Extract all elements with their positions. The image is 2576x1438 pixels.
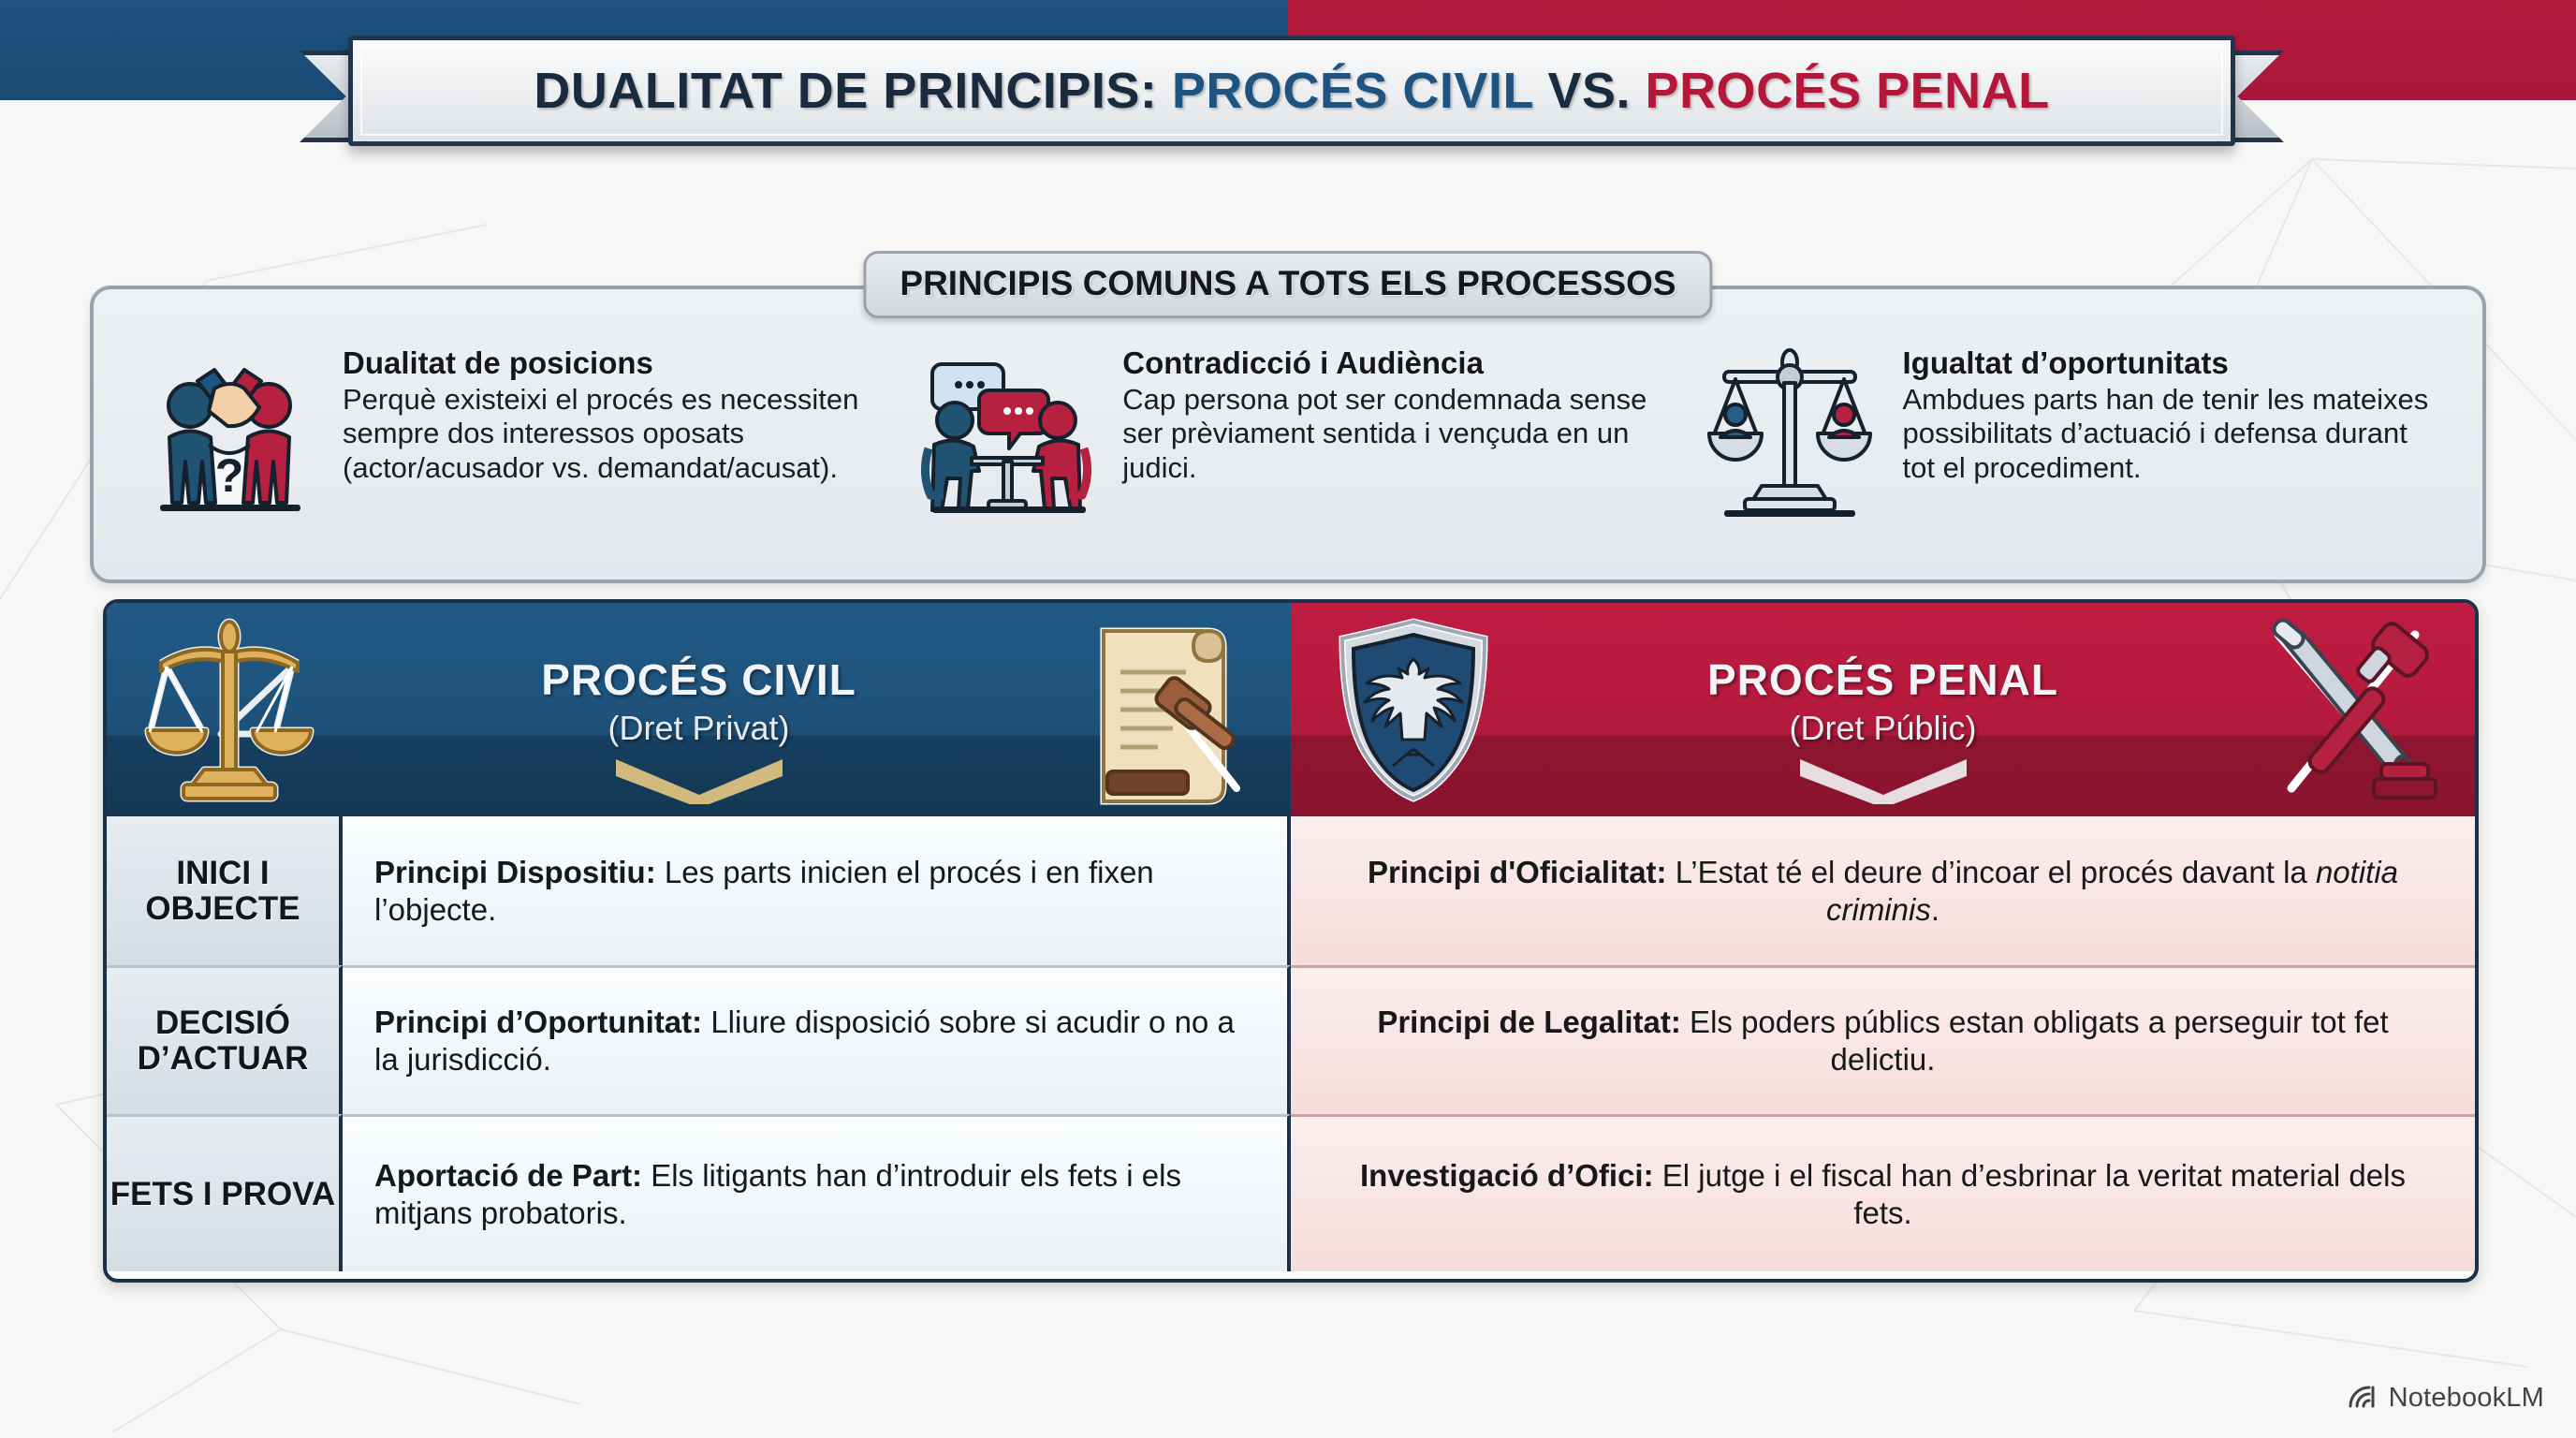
comparison-table: PROCÉS CIVIL (Dret Privat): [103, 599, 2479, 1283]
common-principles-panel: ? Dualitat de posicions Perquè existeixi…: [90, 286, 2486, 583]
row-cell-civil: Principi Dispositiu: Les parts inicien e…: [343, 816, 1291, 965]
row-cell-penal-term: Principi de Legalitat:: [1377, 1005, 1681, 1039]
column-subtitle-penal: (Dret Públic): [1707, 709, 2058, 748]
row-cell-civil: Aportació de Part: Els litigants han d’i…: [343, 1114, 1291, 1271]
notebooklm-watermark: NotebookLM: [2347, 1383, 2544, 1414]
row-cell-penal-tail: .: [1931, 892, 1939, 927]
row-cell-civil-term: Aportació de Part:: [374, 1158, 642, 1193]
common-principle-text: Contradicció i Audiència Cap persona pot…: [1122, 340, 1664, 527]
table-header-row: PROCÉS CIVIL (Dret Privat): [107, 603, 2475, 816]
common-principle-item: Igualtat d’oportunitats Ambdues parts ha…: [1678, 340, 2458, 527]
column-title-penal: PROCÉS PENAL: [1707, 654, 2058, 705]
page-title: DUALITAT DE PRINCIPIS: PROCÉS CIVIL VS. …: [534, 62, 2049, 120]
title-part-vs: VS.: [1547, 63, 1631, 119]
table-row: FETS I PROVA Aportació de Part: Els liti…: [107, 1114, 2475, 1271]
column-title-civil: PROCÉS CIVIL: [541, 654, 856, 705]
title-plate: DUALITAT DE PRINCIPIS: PROCÉS CIVIL VS. …: [348, 36, 2235, 146]
column-header-penal-titles: PROCÉS PENAL (Dret Públic): [1707, 654, 2058, 765]
eagle-shield-icon: [1325, 614, 1502, 811]
common-principle-item: Contradicció i Audiència Cap persona pot…: [898, 340, 1677, 527]
common-principle-heading: Dualitat de posicions: [343, 345, 885, 381]
common-principle-body: Cap persona pot ser condemnada sense ser…: [1122, 383, 1664, 485]
table-row: DECISIÓ D’ACTUAR Principi d’Oportunitat:…: [107, 965, 2475, 1114]
common-principle-heading: Igualtat d’oportunitats: [1903, 345, 2445, 381]
column-header-civil: PROCÉS CIVIL (Dret Privat): [107, 603, 1291, 816]
row-cell-penal-desc: Els poders públics estan obligats a pers…: [1681, 1005, 2389, 1077]
notebooklm-arcs-logo-icon: [2347, 1383, 2378, 1414]
row-cell-penal: Investigació d’Ofici: El jutge i el fisc…: [1291, 1114, 2475, 1271]
infographic-page: DUALITAT DE PRINCIPIS: PROCÉS CIVIL VS. …: [0, 0, 2576, 1438]
common-principle-body: Ambdues parts han de tenir les mateixes …: [1903, 383, 2445, 485]
common-principle-text: Dualitat de posicions Perquè existeixi e…: [343, 340, 885, 527]
table-row: INICI I OBJECTE Principi Dispositiu: Les…: [107, 816, 2475, 965]
notebooklm-label: NotebookLM: [2389, 1383, 2544, 1414]
row-label: DECISIÓ D’ACTUAR: [107, 965, 343, 1114]
handshake-two-parties-icon: ?: [131, 340, 328, 527]
row-cell-penal-term: Investigació d’Ofici:: [1360, 1158, 1654, 1193]
svg-text:?: ?: [215, 449, 244, 502]
column-header-penal: PROCÉS PENAL (Dret Públic): [1291, 603, 2475, 816]
row-cell-penal-desc: L’Estat té el deure d’incoar el procés d…: [1667, 855, 2316, 889]
two-people-discussion-icon: [911, 340, 1107, 527]
title-part-dark: DUALITAT DE PRINCIPIS:: [534, 63, 1157, 119]
column-header-civil-titles: PROCÉS CIVIL (Dret Privat): [541, 654, 856, 765]
row-cell-penal-term: Principi d'Oficialitat:: [1368, 855, 1667, 889]
balance-scale-equality-icon: [1691, 340, 1888, 527]
row-cell-civil: Principi d’Oportunitat: Lliure disposici…: [343, 965, 1291, 1114]
row-label: INICI I OBJECTE: [107, 816, 343, 965]
common-principle-heading: Contradicció i Audiència: [1122, 345, 1664, 381]
row-cell-penal: Principi d'Oficialitat: L’Estat té el de…: [1291, 816, 2475, 965]
crossed-sword-and-gavel-icon: [2254, 614, 2441, 811]
row-cell-penal: Principi de Legalitat: Els poders públic…: [1291, 965, 2475, 1114]
row-label: FETS I PROVA: [107, 1114, 343, 1271]
row-cell-penal-desc: El jutge i el fiscal han d’esbrinar la v…: [1654, 1158, 2406, 1230]
scroll-and-gavel-icon: [1070, 614, 1257, 811]
common-principle-item: ? Dualitat de posicions Perquè existeixi…: [118, 340, 898, 527]
title-ribbon: DUALITAT DE PRINCIPIS: PROCÉS CIVIL VS. …: [300, 36, 2284, 150]
row-cell-civil-term: Principi d’Oportunitat:: [374, 1005, 702, 1039]
title-part-civil: PROCÉS CIVIL: [1172, 63, 1533, 119]
gold-scales-of-justice-icon: [140, 614, 318, 811]
common-principle-body: Perquè existeixi el procés es necessiten…: [343, 383, 885, 485]
title-part-penal: PROCÉS PENAL: [1646, 63, 2050, 119]
common-principle-text: Igualtat d’oportunitats Ambdues parts ha…: [1903, 340, 2445, 527]
column-subtitle-civil: (Dret Privat): [541, 709, 856, 748]
common-principles-heading: PRINCIPIS COMUNS A TOTS ELS PROCESSOS: [863, 251, 1712, 318]
row-cell-civil-term: Principi Dispositiu:: [374, 855, 656, 889]
